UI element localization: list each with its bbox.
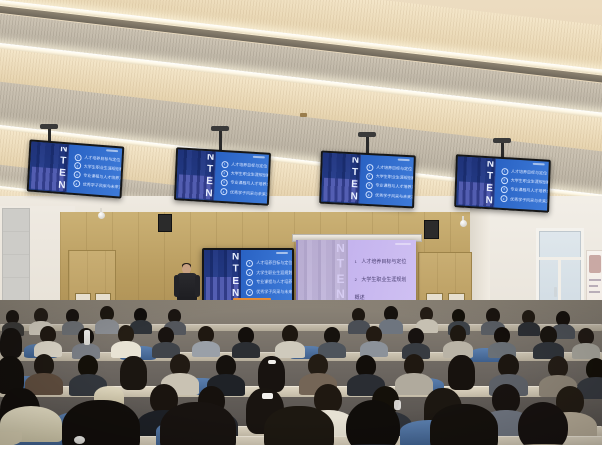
- list-item: 1 人才培养目标与定位: [221, 161, 265, 171]
- list-item: 1 人才培养目标与定位: [501, 168, 545, 178]
- tv-mount-plate-3: [358, 132, 376, 137]
- bullet-number: 4: [246, 289, 253, 296]
- water-bottle: [84, 330, 90, 345]
- slide-heading: CONTENTS: [480, 161, 500, 205]
- water-bottle: [74, 436, 85, 444]
- slide-bullet-list: 1 人才培养目标与定位 2 大学生职业生涯规划概述 3 专业课程与人才培养方案 …: [365, 163, 410, 202]
- bullet-text: 人才培养目标与定位: [376, 165, 412, 173]
- shoulders: [232, 342, 260, 358]
- bullet-number: 3: [73, 171, 80, 179]
- lecture-hall-photo: CONTENTS 1 人才培养目标与定位 2 大学生职业生涯规划概述 3 专业课…: [0, 0, 602, 451]
- ceiling-tv-1: CONTENTS 1 人才培养目标与定位 2 大学生职业生涯规划概述 3 专业课…: [27, 139, 125, 198]
- wall-speaker-right: [424, 220, 439, 239]
- slide-contents: CONTENTS 1 人才培养目标与定位 2 大学生职业生涯规划概述 3 专业课…: [204, 250, 292, 302]
- bullet-number: 3: [500, 186, 507, 193]
- bullet-text: 专业课程与人才培养方案: [256, 279, 292, 285]
- slide-contents: CONTENTS 1 人才培养目标与定位 2 大学生职业生涯规划概述 3 专业课…: [29, 142, 122, 197]
- ceiling-tv-4: CONTENTS 1 人才培养目标与定位 2 大学生职业生涯规划概述 3 专业课…: [454, 154, 551, 213]
- tv-mount-pole-4: [501, 142, 504, 158]
- shoulders: [95, 319, 119, 334]
- poster-figure: [589, 255, 601, 273]
- window-handle[interactable]: [554, 287, 557, 297]
- long-hair: [430, 404, 498, 451]
- hair-clip: [268, 360, 276, 364]
- shoulders: [379, 319, 403, 334]
- bullet-number: 2: [246, 269, 253, 276]
- bullet-number: 2: [221, 170, 228, 177]
- tv-mount-plate-2: [211, 126, 229, 131]
- slide-logo: [532, 163, 545, 166]
- list-item: 4 优秀学子风采与未来发展方向: [500, 195, 544, 205]
- long-hair: [160, 402, 236, 451]
- bullet-text: 人才培养目标与定位: [511, 169, 547, 177]
- slide-bullet-list: 1 人才培养目标与定位 2 大学生职业生涯规划概述 3 专业课程与人才培养方案 …: [500, 167, 545, 206]
- bullet-number: 3: [246, 279, 253, 286]
- security-camera-icon: [98, 212, 105, 219]
- bullet-number: 3: [220, 179, 227, 186]
- hair-clip: [262, 393, 273, 399]
- poster-line: [589, 279, 601, 281]
- shoulders: [395, 373, 433, 395]
- slide-heading: CONTENTS: [200, 154, 220, 198]
- bullet-number: 1: [501, 168, 508, 175]
- slide-logo: [397, 158, 410, 161]
- list-item: 2 大学生职业生涯规划概述: [355, 268, 412, 304]
- slide-heading: CONTENTS: [345, 157, 365, 201]
- presenter-arm-left: [174, 275, 179, 297]
- bullet-text: 优秀学子风采与未来发展方向: [230, 189, 269, 198]
- bullet-number: 1: [355, 259, 357, 264]
- presenter-torso: [177, 273, 197, 301]
- bullet-number: 3: [365, 182, 372, 189]
- bullet-text: 优秀学子风采与未来发展方向: [83, 181, 123, 191]
- bullet-text: 人才培养目标与定位: [361, 259, 406, 265]
- bullet-text: 专业课程与人才培养方案: [230, 180, 269, 189]
- bullet-number: 2: [366, 173, 373, 180]
- list-item: 4 优秀学子风采与未来发展方向: [73, 180, 117, 190]
- long-hair: [62, 400, 140, 451]
- slide-heading: CONTENTS: [227, 253, 245, 299]
- bullet-text: 人才培养目标与定位: [256, 260, 292, 266]
- list-item: 4 优秀学子风采与未来发展方向: [220, 188, 264, 198]
- bullet-number: 2: [355, 277, 357, 282]
- tv-mount-pole-3: [366, 136, 369, 154]
- slide-bullet-list: 1 人才培养目标与定位 2 大学生职业生涯规划概述 3 专业课程与人才培养方案 …: [246, 258, 288, 297]
- bullet-text: 优秀学子风采与未来发展方向: [256, 289, 292, 295]
- poster-line: [589, 291, 600, 293]
- tv-mount-plate-1: [40, 124, 58, 129]
- shoulders: [572, 343, 600, 359]
- list-item: 4 优秀学子风采与未来发展方向: [365, 191, 409, 200]
- slide-logo: [252, 156, 265, 159]
- ceiling-tv-3: CONTENTS 1 人才培养目标与定位 2 大学生职业生涯规划概述 3 专业课…: [319, 151, 416, 209]
- list-item: 2 大学生职业生涯规划概述: [501, 177, 545, 187]
- slide-logo: [276, 252, 288, 254]
- face-mask: [394, 400, 401, 410]
- bullet-number: 4: [365, 191, 372, 198]
- slide-contents: CONTENTS 1 人才培养目标与定位 2 大学生职业生涯规划概述 3 专业课…: [321, 153, 414, 207]
- slide-bullet-list: 1 人才培养目标与定位 2 大学生职业生涯规划概述 3 专业课程与人才培养方案 …: [73, 153, 119, 192]
- bullet-text: 优秀学子风采与未来发展方向: [375, 192, 414, 201]
- bullet-number: 2: [74, 162, 81, 170]
- long-hair: [448, 355, 475, 390]
- bullet-text: 人才培养目标与定位: [84, 155, 120, 164]
- bullet-number: 1: [366, 164, 373, 171]
- list-item: 1 人才培养目标与定位: [355, 250, 412, 268]
- security-camera-icon: [460, 220, 467, 227]
- bullet-text: 专业课程与人才培养方案: [375, 183, 413, 191]
- slide-logo: [106, 149, 119, 152]
- shoulders: [275, 341, 305, 358]
- bullet-text: 大学生职业生涯规划概述: [376, 174, 414, 182]
- ceiling-vent-icon: [300, 113, 307, 117]
- bullet-text: 专业课程与人才培养方案: [510, 187, 548, 196]
- ceiling-tv-2: CONTENTS 1 人才培养目标与定位 2 大学生职业生涯规划概述 3 专业课…: [174, 147, 271, 206]
- list-item: 2 大学生职业生涯规划概述: [246, 269, 288, 276]
- presenter-arm-right: [195, 275, 200, 297]
- long-hair: [120, 356, 147, 390]
- photo-bottom-border: [0, 445, 602, 451]
- bullet-number: 4: [220, 188, 227, 195]
- bullet-text: 大学生职业生涯规划概述: [256, 270, 292, 276]
- bullet-number: 1: [221, 161, 228, 168]
- bullet-number: 2: [501, 177, 508, 184]
- slide-logo: [395, 243, 412, 246]
- bullet-number: 1: [246, 260, 253, 267]
- bullet-text: 大学生职业生涯规划概述: [511, 178, 549, 187]
- list-item: 3 专业课程与人才培养方案: [220, 179, 264, 189]
- slide-heading: CONTENTS: [329, 244, 353, 300]
- audience-area: LOCK: [0, 300, 602, 451]
- slide-bullet-list: 1 人才培养目标与定位 2 大学生职业生涯规划概述 3 专业课程与人才培养方案 …: [220, 160, 265, 199]
- bullet-text: 优秀学子风采与未来发展方向: [510, 196, 549, 205]
- slide-heading: CONTENTS: [53, 146, 73, 190]
- list-item: 3 专业课程与人才培养方案: [246, 279, 288, 286]
- acoustic-panel: [2, 208, 30, 302]
- tv-mount-pole-2: [219, 130, 222, 150]
- stage-tv: CONTENTS 1 人才培养目标与定位 2 大学生职业生涯规划概述 3 专业课…: [202, 248, 294, 304]
- list-item: 2 大学生职业生涯规划概述: [366, 173, 410, 182]
- list-item: 2 大学生职业生涯规划概述: [221, 170, 265, 180]
- list-item: 3 专业课程与人才培养方案: [500, 186, 544, 196]
- slide-contents: CONTENTS 1 人才培养目标与定位 2 大学生职业生涯规划概述 3 专业课…: [456, 156, 549, 210]
- shoulders: [192, 341, 220, 357]
- bullet-text: 大学生职业生涯规划概述: [355, 277, 407, 301]
- list-item: 1 人才培养目标与定位: [246, 260, 288, 267]
- slide-contents: CONTENTS 1 人才培养目标与定位 2 大学生职业生涯规划概述 3 专业课…: [176, 149, 269, 203]
- shoulders: [518, 322, 540, 336]
- list-item: 3 专业课程与人才培养方案: [365, 182, 409, 191]
- bullet-text: 人才培养目标与定位: [231, 162, 267, 170]
- list-item: 1 人才培养目标与定位: [366, 164, 410, 173]
- long-hair: [0, 328, 22, 358]
- poster-line: [589, 285, 598, 287]
- wall-speaker-left: [158, 214, 172, 232]
- bullet-number: 1: [74, 153, 81, 161]
- bullet-number: 4: [73, 180, 80, 188]
- slide-bullet-list: 1 人才培养目标与定位 2 大学生职业生涯规划概述 3 专业课程与人才培养方案 …: [355, 250, 412, 297]
- projector-screen: CONTENTS 1 人才培养目标与定位 2 大学生职业生涯规划概述 3 专业课…: [296, 240, 416, 304]
- bullet-text: 大学生职业生涯规划概述: [231, 171, 269, 180]
- list-item: 4 优秀学子风采与未来发展方向: [246, 289, 288, 296]
- tv-mount-plate-4: [493, 138, 511, 143]
- bullet-number: 4: [500, 195, 507, 202]
